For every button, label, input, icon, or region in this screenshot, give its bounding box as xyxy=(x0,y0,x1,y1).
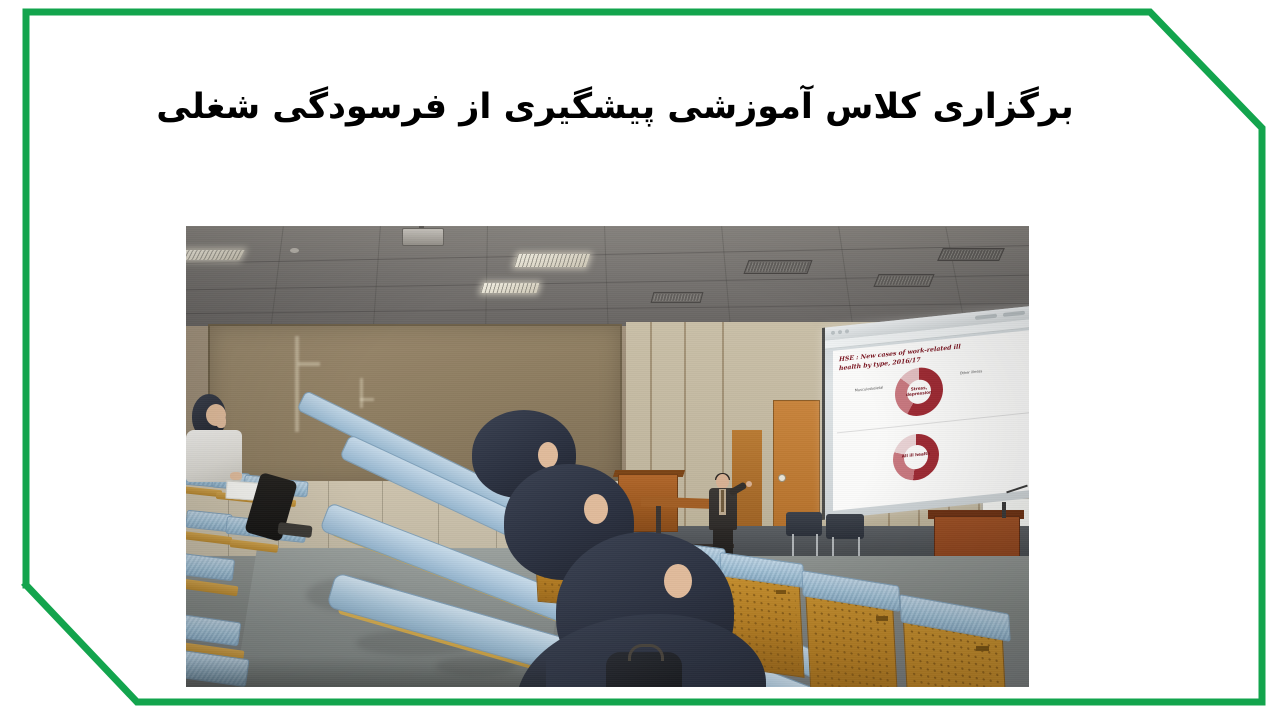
page-title: برگزاری کلاس آموزشی پیشگیری از فرسودگی ش… xyxy=(140,72,1090,144)
slide-canvas: برگزاری کلاس آموزشی پیشگیری از فرسودگی ش… xyxy=(0,0,1280,720)
lecture-hall-photo: HSE : New cases of work-related ill heal… xyxy=(186,226,1029,687)
photo-grain xyxy=(186,226,1029,687)
photo-container: HSE : New cases of work-related ill heal… xyxy=(186,226,1029,687)
page-title-text: برگزاری کلاس آموزشی پیشگیری از فرسودگی ش… xyxy=(156,86,1074,130)
